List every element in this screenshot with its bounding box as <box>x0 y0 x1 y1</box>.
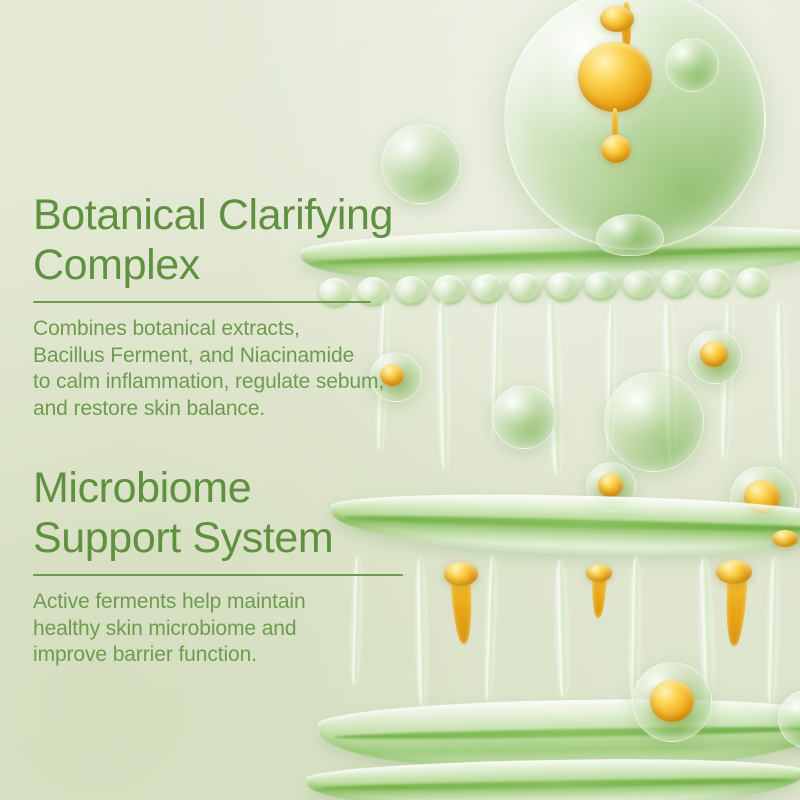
section-2-body: Active ferments help maintain healthy sk… <box>33 589 433 669</box>
section-2-divider <box>33 574 403 576</box>
section-1-heading: Botanical Clarifying Complex <box>33 190 433 290</box>
text-content: Botanical Clarifying Complex Combines bo… <box>0 0 800 800</box>
product-ingredient-poster: Botanical Clarifying Complex Combines bo… <box>0 0 800 800</box>
section-1-divider <box>33 301 371 303</box>
section-block-2: Microbiome Support System Active ferment… <box>33 463 433 669</box>
section-2-heading: Microbiome Support System <box>33 463 433 563</box>
section-1-body: Combines botanical extracts, Bacillus Fe… <box>33 316 433 422</box>
section-block-1: Botanical Clarifying Complex Combines bo… <box>33 190 433 422</box>
